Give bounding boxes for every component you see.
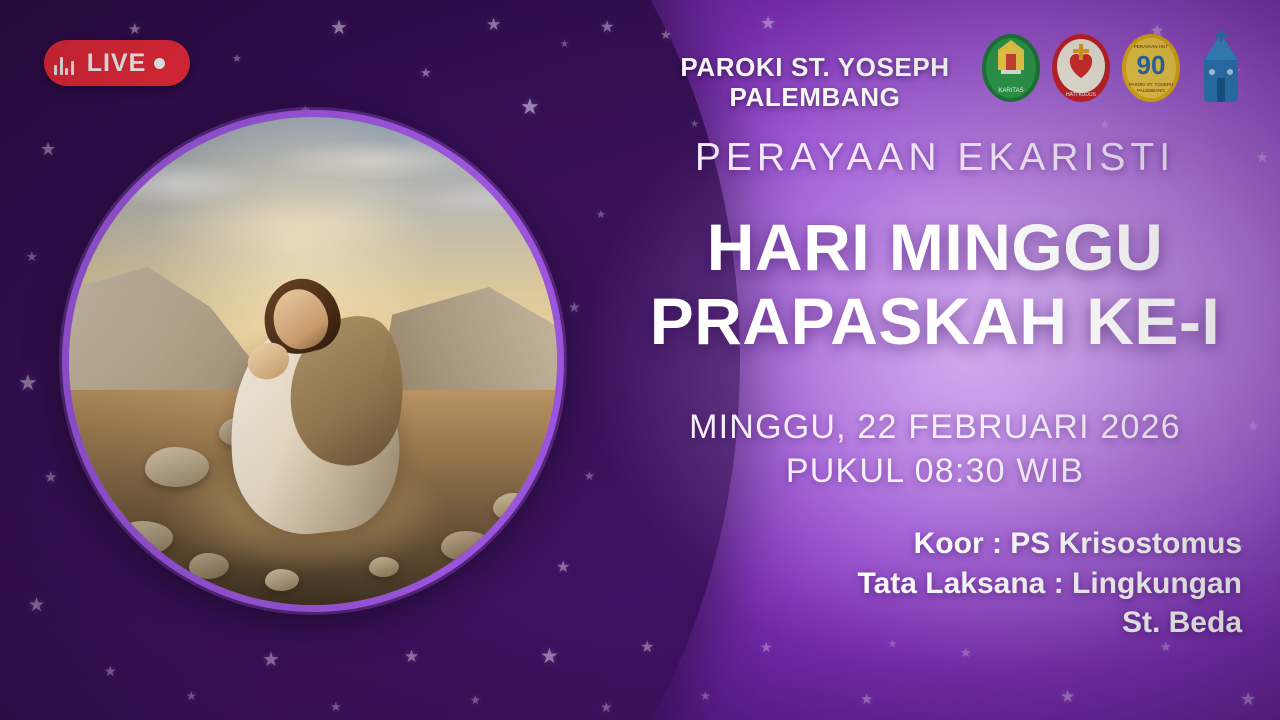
credit-lingkungan-name: St. Beda [642, 603, 1242, 643]
logo-hati-kudus: HATI KUDUS [1050, 30, 1112, 106]
kneeling-figure [220, 263, 410, 553]
event-title-line-1: HARI MINGGU [590, 214, 1280, 281]
parish-name: PAROKI ST. YOSEPH PALEMBANG [640, 52, 990, 112]
svg-text:PERAYAAN HUT: PERAYAAN HUT [1134, 44, 1169, 49]
content-column: PAROKI ST. YOSEPH PALEMBANG KARITAS [590, 0, 1280, 720]
event-subtitle: PERAYAAN EKARISTI [590, 136, 1280, 180]
event-time: PUKUL 08:30 WIB [590, 452, 1280, 491]
logo-hut-90: 90 PERAYAAN HUT PAROKI ST. YOSEPH PALEMB… [1120, 30, 1182, 106]
jesus-praying-photo [62, 110, 564, 612]
live-label: LIVE [87, 49, 147, 78]
logo-karitas: KARITAS [980, 30, 1042, 106]
svg-text:PALEMBANG: PALEMBANG [1137, 88, 1165, 93]
livestream-thumbnail: ★★★★★★★★★★★★★★★★★★★★★★★★★★★★★★★★★★★★★★★★… [0, 0, 1280, 720]
svg-text:90: 90 [1137, 50, 1166, 80]
broadcast-bars-icon [54, 51, 74, 75]
svg-text:KARITAS: KARITAS [998, 88, 1023, 94]
logo-gereja [1190, 30, 1252, 106]
credits-block: Koor : PS Krisostomus Tata Laksana : Lin… [642, 524, 1242, 643]
parish-line-1: PAROKI ST. YOSEPH [640, 52, 990, 82]
credit-choir: Koor : PS Krisostomus [642, 524, 1242, 564]
photo-image [69, 117, 557, 605]
live-dot-icon [154, 58, 165, 69]
svg-text:HATI KUDUS: HATI KUDUS [1066, 92, 1097, 98]
svg-text:PAROKI ST. YOSEPH: PAROKI ST. YOSEPH [1129, 82, 1173, 87]
credit-tata-laksana: Tata Laksana : Lingkungan [642, 564, 1242, 604]
live-badge: LIVE [44, 40, 190, 86]
logo-row: KARITAS HATI KUDUS 90 PERAYAA [980, 30, 1252, 106]
event-date: MINGGU, 22 FEBRUARI 2026 [590, 408, 1280, 447]
parish-line-2: PALEMBANG [640, 82, 990, 112]
event-title-line-2: PRAPASKAH KE-I [590, 288, 1280, 355]
